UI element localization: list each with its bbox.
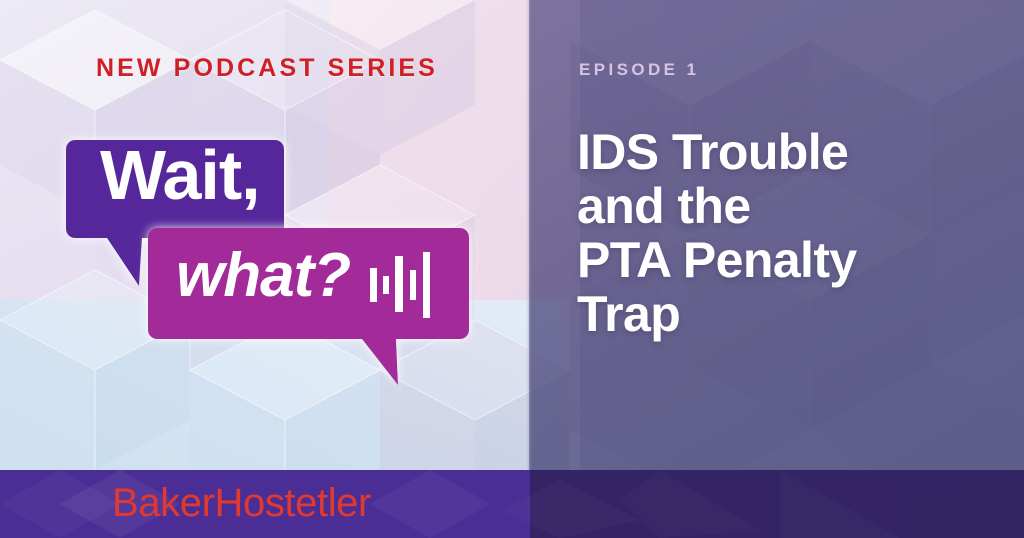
episode-title-line-4: Trap bbox=[577, 287, 957, 341]
logo-word-wait: Wait, bbox=[100, 140, 260, 210]
audio-waveform-icon bbox=[368, 252, 448, 318]
panel-divider bbox=[526, 0, 532, 470]
episode-title-line-1: IDS Trouble bbox=[577, 125, 957, 179]
podcast-promo-graphic: NEW PODCAST SERIES Wait, what? bbox=[0, 0, 1024, 538]
episode-number-label: EPISODE 1 bbox=[579, 60, 699, 80]
episode-title: IDS Trouble and the PTA Penalty Trap bbox=[577, 125, 957, 341]
episode-title-line-2: and the bbox=[577, 179, 957, 233]
new-podcast-series-eyebrow: NEW PODCAST SERIES bbox=[96, 54, 438, 83]
logo-word-what: what? bbox=[176, 245, 350, 307]
bakerhostetler-wordmark: BakerHostetler bbox=[112, 481, 371, 526]
episode-title-line-3: PTA Penalty bbox=[577, 233, 957, 287]
